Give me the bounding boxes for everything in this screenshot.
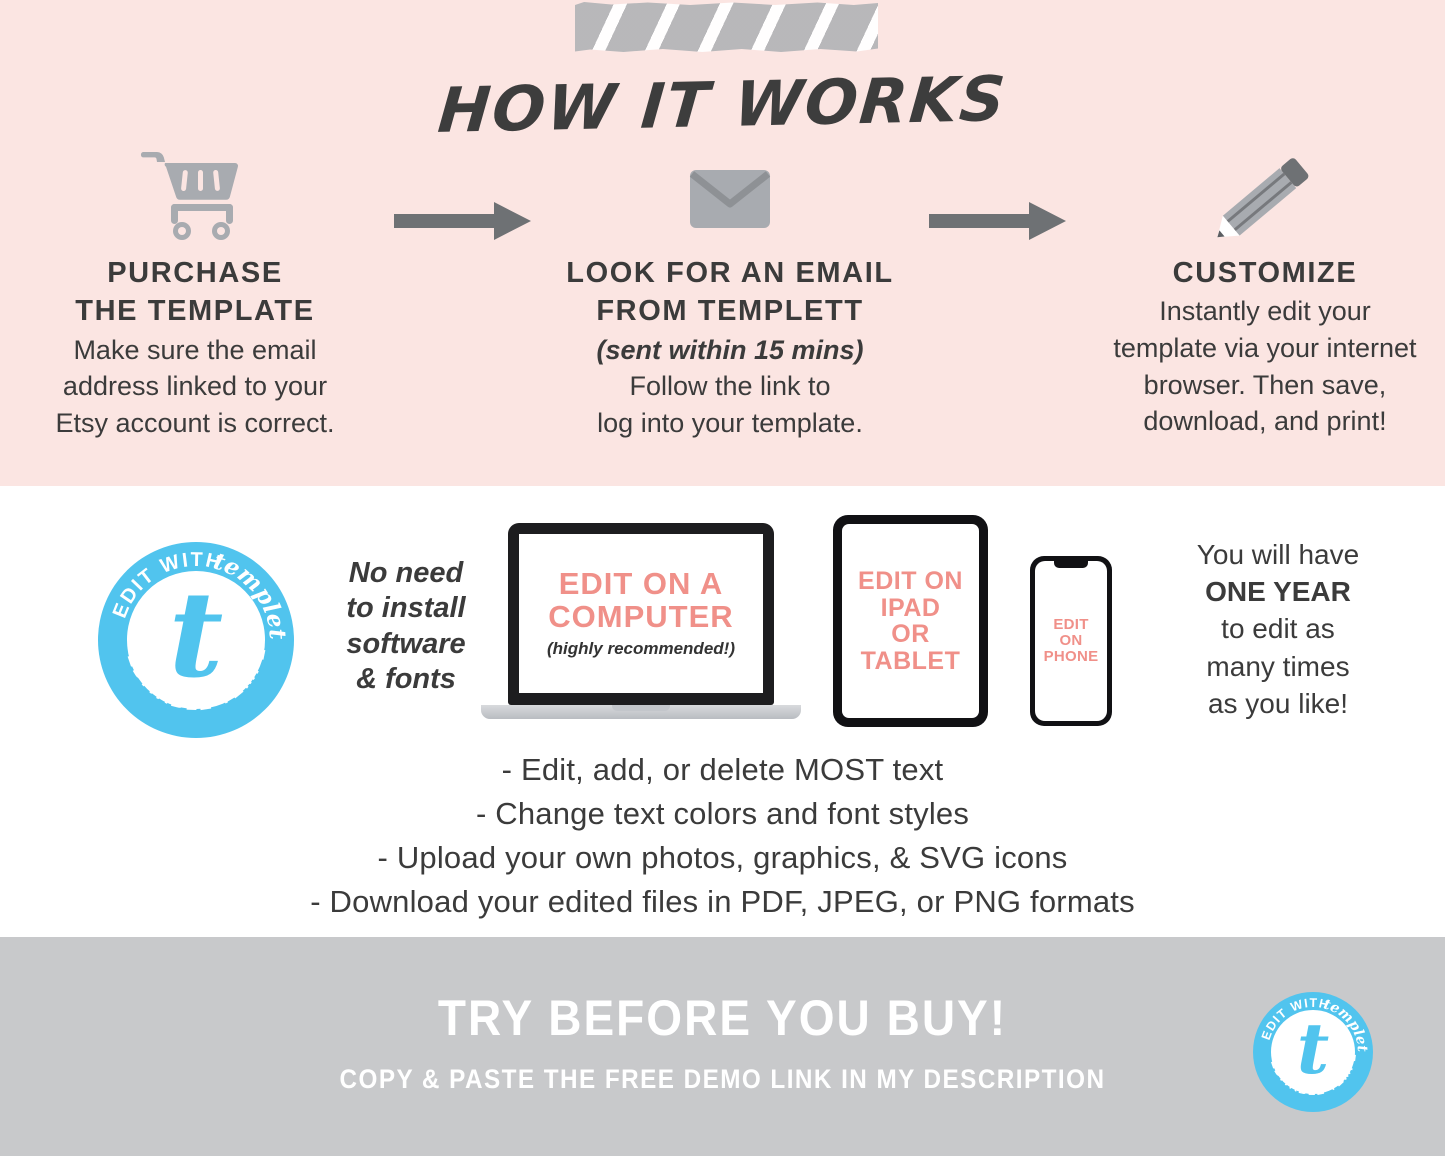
one-year-line: many times — [1128, 648, 1428, 685]
templett-badge-footer: EDIT WITH templett EDITABLE TEMPLATE t — [1253, 992, 1373, 1112]
templett-badge: EDIT WITH templett EDITABLE TEMPLATE t — [98, 542, 306, 738]
one-year-line-bold: ONE YEAR — [1128, 573, 1428, 610]
no-need-line: No need — [330, 556, 482, 591]
screen-line: EDIT — [1044, 617, 1099, 633]
heading-line: THE TEMPLATE — [0, 292, 390, 330]
laptop-lid: EDIT ON A COMPUTER (highly recommended!) — [508, 523, 774, 705]
body-line-italic: (sent within 15 mins) — [535, 332, 925, 369]
step-email: LOOK FOR AN EMAIL FROM TEMPLETT (sent wi… — [535, 146, 925, 442]
no-need-line: software — [330, 627, 482, 662]
templett-badge-circle: EDIT WITH templett EDITABLE TEMPLATE t — [1253, 992, 1373, 1112]
screen-line: OR — [858, 621, 963, 648]
pencil-icon — [1070, 146, 1445, 242]
feature-list: - Edit, add, or delete MOST text - Chang… — [0, 748, 1445, 924]
no-need-text: No need to install software & fonts — [330, 556, 482, 698]
step-body: Make sure the email address linked to yo… — [0, 332, 390, 442]
no-need-line: to install — [330, 591, 482, 626]
heading-line: FROM TEMPLETT — [535, 292, 925, 330]
envelope-icon — [535, 146, 925, 242]
body-line: Make sure the email — [0, 332, 390, 369]
laptop-screen: EDIT ON A COMPUTER (highly recommended!) — [519, 534, 763, 693]
body-line: Follow the link to — [535, 368, 925, 405]
footer-subtitle: COPY & PASTE THE FREE DEMO LINK IN MY DE… — [72, 1064, 1373, 1095]
steps-row: PURCHASE THE TEMPLATE Make sure the emai… — [0, 146, 1445, 442]
arrow-right-icon — [925, 198, 1070, 244]
infographic-page: HOW IT WORKS — [0, 0, 1445, 1156]
one-year-text: You will have ONE YEAR to edit as many t… — [1128, 536, 1428, 722]
shopping-cart-icon — [0, 146, 390, 242]
one-year-line: as you like! — [1128, 685, 1428, 722]
no-need-line: & fonts — [330, 662, 482, 697]
body-line: address linked to your — [0, 368, 390, 405]
list-item: - Edit, add, or delete MOST text — [0, 748, 1445, 792]
try-before-you-buy-section: TRY BEFORE YOU BUY! COPY & PASTE THE FRE… — [0, 937, 1445, 1156]
phone-notch — [1054, 561, 1088, 568]
screen-line: PHONE — [1044, 649, 1099, 665]
ipad-screen: EDIT ON IPAD OR TABLET — [842, 524, 979, 718]
ipad-mockup: EDIT ON IPAD OR TABLET — [833, 515, 988, 727]
badge-center-letter: t — [98, 542, 294, 738]
step-heading: PURCHASE THE TEMPLATE — [0, 254, 390, 331]
templett-badge-circle: EDIT WITH templett EDITABLE TEMPLATE t — [98, 542, 294, 738]
body-line: log into your template. — [535, 405, 925, 442]
screen-line: TABLET — [858, 648, 963, 675]
heading-line: LOOK FOR AN EMAIL — [535, 254, 925, 292]
screen-line: IPAD — [858, 595, 963, 622]
list-item: - Download your edited files in PDF, JPE… — [0, 880, 1445, 924]
heading-line: CUSTOMIZE — [1070, 254, 1445, 292]
ipad-screen-heading: EDIT ON IPAD OR TABLET — [858, 568, 963, 674]
step-purchase: PURCHASE THE TEMPLATE Make sure the emai… — [0, 146, 390, 442]
step-customize: CUSTOMIZE Instantly edit your template v… — [1070, 146, 1445, 440]
badge-center-letter: t — [1253, 992, 1373, 1112]
how-it-works-section: HOW IT WORKS — [0, 0, 1445, 486]
step-body: Instantly edit your template via your in… — [1070, 293, 1445, 440]
step-body: (sent within 15 mins) Follow the link to… — [535, 332, 925, 442]
arrow-right-icon — [390, 198, 535, 244]
body-line: browser. Then save, — [1070, 367, 1445, 404]
washi-tape-icon — [575, 2, 878, 52]
heading-line: PURCHASE — [0, 254, 390, 292]
step-heading: LOOK FOR AN EMAIL FROM TEMPLETT — [535, 254, 925, 331]
laptop-screen-heading: EDIT ON A COMPUTER — [548, 568, 733, 634]
phone-screen-heading: EDIT ON PHONE — [1044, 617, 1099, 665]
screen-line: COMPUTER — [548, 601, 733, 634]
footer-title: TRY BEFORE YOU BUY! — [58, 989, 1387, 1047]
page-title: HOW IT WORKS — [0, 53, 1445, 156]
phone-screen: EDIT ON PHONE — [1035, 561, 1107, 721]
laptop-screen-subtitle: (highly recommended!) — [547, 639, 735, 659]
screen-line: EDIT ON — [858, 568, 963, 595]
laptop-trackpad-notch — [612, 705, 670, 711]
one-year-line: You will have — [1128, 536, 1428, 573]
list-item: - Change text colors and font styles — [0, 792, 1445, 836]
screen-line: ON — [1044, 633, 1099, 649]
step-heading: CUSTOMIZE — [1070, 254, 1445, 292]
body-line: template via your internet — [1070, 330, 1445, 367]
laptop-mockup: EDIT ON A COMPUTER (highly recommended!) — [481, 523, 801, 728]
screen-line: EDIT ON A — [548, 568, 733, 601]
body-line: Etsy account is correct. — [0, 405, 390, 442]
phone-mockup: EDIT ON PHONE — [1030, 556, 1112, 726]
list-item: - Upload your own photos, graphics, & SV… — [0, 836, 1445, 880]
body-line: download, and print! — [1070, 403, 1445, 440]
one-year-line: to edit as — [1128, 610, 1428, 647]
body-line: Instantly edit your — [1070, 293, 1445, 330]
